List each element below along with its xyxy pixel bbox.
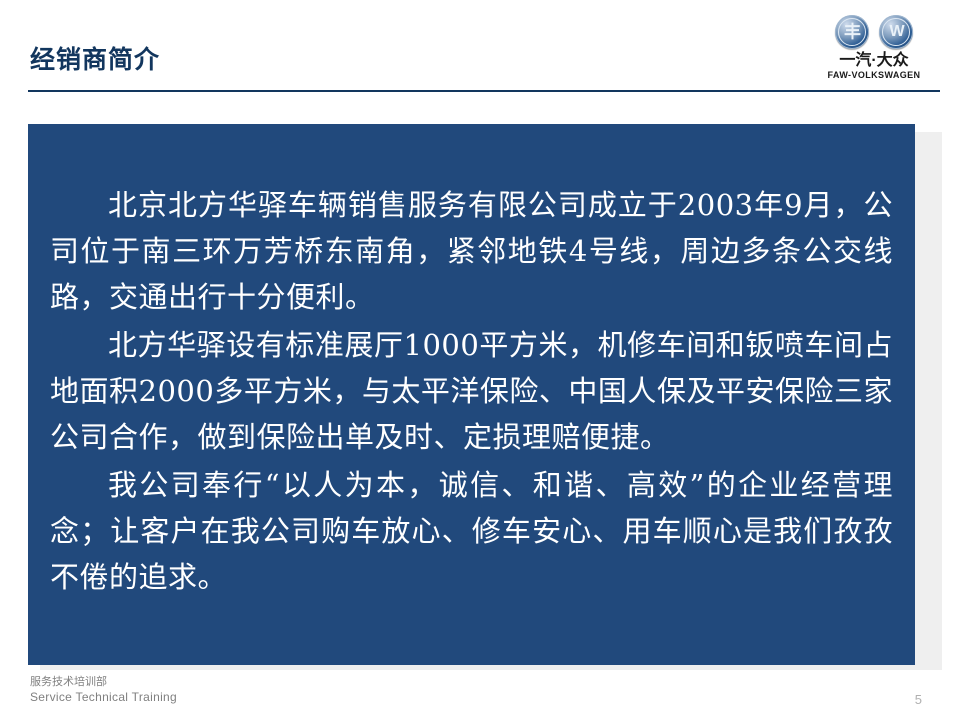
- brand-name-en: FAW-VOLKSWAGEN: [806, 70, 942, 81]
- brand-name-cn: 一汽·大众: [806, 52, 942, 70]
- logo-emblem-row: 丰 W: [806, 14, 942, 50]
- footer-department-cn: 服务技术培训部: [30, 676, 177, 690]
- paragraph-1: 北京北方华驿车辆销售服务有限公司成立于2003年9月，公司位于南三环万芳桥东南角…: [50, 182, 893, 320]
- header-divider: [28, 90, 940, 92]
- paragraph-3: 我公司奉行“以人为本，诚信、和谐、高效”的企业经营理念；让客户在我公司购车放心、…: [50, 462, 893, 600]
- paragraph-2: 北方华驿设有标准展厅1000平方米，机修车间和钣喷车间占地面积2000多平方米，…: [50, 322, 893, 460]
- faw-volkswagen-logo: 丰 W 一汽·大众 FAW-VOLKSWAGEN: [806, 14, 942, 86]
- slide-footer: 服务技术培训部 Service Technical Training: [30, 676, 177, 705]
- footer-department-en: Service Technical Training: [30, 690, 177, 705]
- dealer-introduction-text: 北京北方华驿车辆销售服务有限公司成立于2003年9月，公司位于南三环万芳桥东南角…: [50, 182, 893, 600]
- faw-emblem-icon: 丰: [835, 15, 869, 49]
- volkswagen-emblem-icon: W: [879, 15, 913, 49]
- vw-emblem-glyph: W: [879, 24, 913, 40]
- content-panel: 北京北方华驿车辆销售服务有限公司成立于2003年9月，公司位于南三环万芳桥东南角…: [28, 124, 915, 665]
- page-number: 5: [915, 692, 922, 707]
- faw-emblem-glyph: 丰: [835, 24, 869, 41]
- page-title: 经销商简介: [30, 48, 160, 73]
- slide-header: 经销商简介 丰 W 一汽·大众 FAW-VOLKSWAGEN: [0, 0, 960, 95]
